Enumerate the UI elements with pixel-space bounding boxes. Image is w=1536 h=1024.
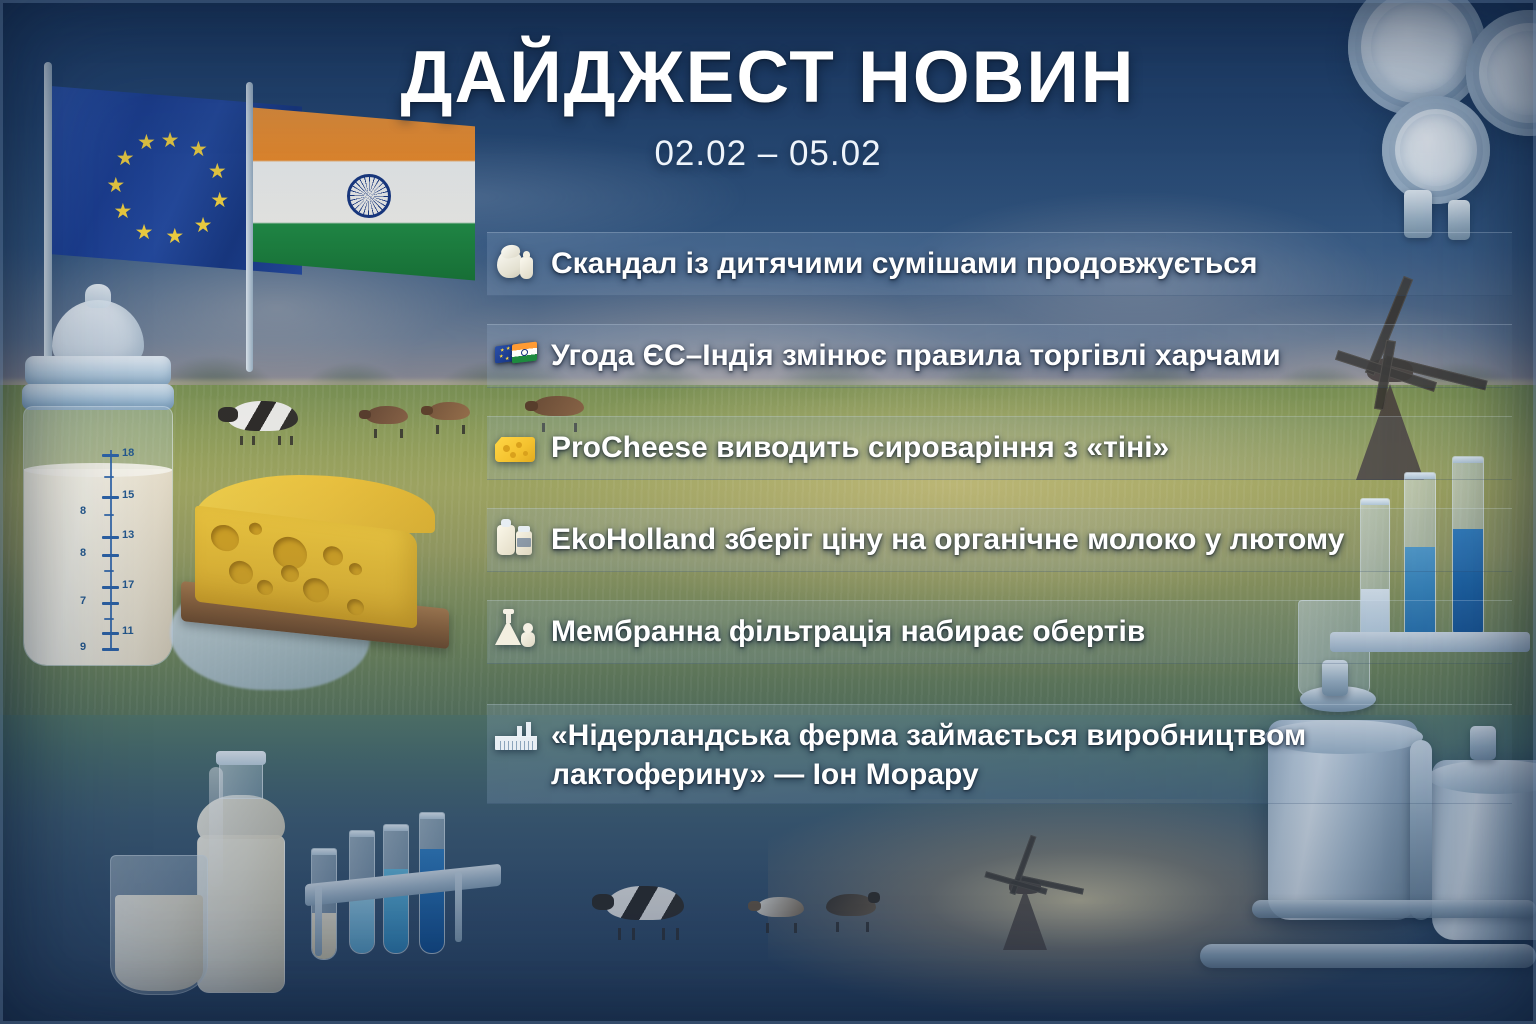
factory-icon (495, 716, 537, 758)
date-range: 02.02 – 05.02 (0, 134, 1536, 174)
poster-content: ДАЙДЖЕСТ НОВИН 02.02 – 05.02 Скандал із … (0, 0, 1536, 1024)
cheese-wedge-icon (495, 428, 537, 470)
news-digest-poster: ★ ★ ★ ★ ★ ★ ★ ★ ★ ★ ★ ★ 18 15 8 (0, 0, 1536, 1024)
eu-india-flags-icon: ★ ★ ★ ★ ★ ★ (495, 336, 537, 378)
baby-formula-icon (495, 244, 537, 286)
news-item[interactable]: ProCheese виводить сироваріння з «тіні» (487, 416, 1512, 480)
news-item-label: «Нідерландська ферма займається виробниц… (551, 714, 1494, 794)
news-list: Скандал із дитячими сумішами продовжуєть… (487, 232, 1512, 804)
news-item[interactable]: Мембранна фільтрація набирає обертів (487, 600, 1512, 664)
news-item-label: ProCheese виводить сироваріння з «тіні» (551, 426, 1169, 467)
news-item-label: Скандал із дитячими сумішами продовжуєть… (551, 242, 1258, 283)
news-item-label: Мембранна фільтрація набирає обертів (551, 610, 1145, 651)
page-title: ДАЙДЖЕСТ НОВИН (0, 36, 1536, 119)
news-item[interactable]: EkoHolland зберіг ціну на органічне моло… (487, 508, 1512, 572)
lab-flask-icon (495, 612, 537, 654)
news-item[interactable]: «Нідерландська ферма займається виробниц… (487, 704, 1512, 804)
news-item-label: EkoHolland зберіг ціну на органічне моло… (551, 518, 1344, 559)
milk-bottles-icon (495, 520, 537, 562)
news-item-label: Угода ЄС–Індія змінює правила торгівлі х… (551, 334, 1281, 375)
news-item[interactable]: ★ ★ ★ ★ ★ ★ Угода ЄС–Індія змінює правил… (487, 324, 1512, 388)
news-item[interactable]: Скандал із дитячими сумішами продовжуєть… (487, 232, 1512, 296)
